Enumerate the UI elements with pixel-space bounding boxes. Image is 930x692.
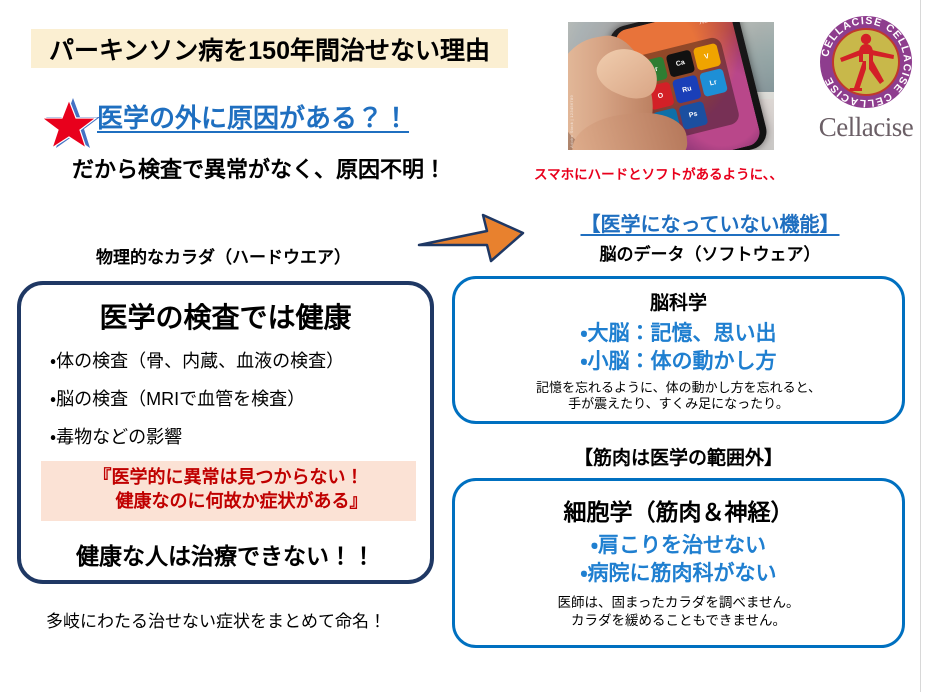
list-item: ・体の検査（骨、内蔵、血液の検査） bbox=[50, 347, 344, 373]
highlighted-quote: 『医学的に異常は見つからない！ 健康なのに何故か症状がある』 bbox=[41, 461, 416, 521]
cellacise-emblem-icon: CELLACISE CELLACISE CELLACISE bbox=[816, 12, 916, 112]
quote-line-2: 健康なのに何故か症状がある』 bbox=[41, 490, 416, 514]
list-item: ・毒物などの影響 bbox=[50, 423, 182, 449]
list-item: ・大脳：記憶、思い出 bbox=[455, 317, 902, 347]
app-icon: Lr bbox=[698, 68, 727, 97]
star-icon bbox=[40, 93, 102, 151]
headline-subline: だから検査で異常がなく、原因不明！ bbox=[72, 152, 446, 184]
photo-caption: スマホにハードとソフトがあるように、、 bbox=[534, 163, 783, 183]
smartphone-photo: Adobe Ar Ca V O Ru Lr ◎ Ps Adobe Stock |… bbox=[568, 22, 774, 150]
headline-group: 医学の外に原因がある？！ bbox=[40, 95, 460, 141]
cellacise-wordmark: Cellacise bbox=[812, 112, 920, 143]
slide-canvas: パーキンソン病を150年間治せない理由 医学の外に原因がある？！ だから検査で異… bbox=[0, 0, 930, 692]
brain-science-box: 脳科学 ・大脳：記憶、思い出 ・小脳：体の動かし方 記憶を忘れるように、体の動か… bbox=[452, 276, 905, 424]
page-title: パーキンソン病を150年間治せない理由 bbox=[49, 31, 490, 67]
brain-note-line: 手が震えたり、すくみ足になったり。 bbox=[455, 393, 902, 412]
headline-link[interactable]: 医学の外に原因がある？！ bbox=[97, 98, 409, 135]
cell-note-line: 医師は、固まったカラダを調べません。 bbox=[455, 591, 902, 611]
list-item: ・肩こりを治せない bbox=[455, 529, 902, 559]
left-box-title: 医学の検査では健康 bbox=[21, 296, 430, 336]
app-icon: Ps bbox=[679, 100, 708, 129]
page-edge-line bbox=[920, 0, 921, 692]
adobe-label: Adobe bbox=[698, 22, 718, 26]
brain-box-title: 脳科学 bbox=[455, 288, 902, 315]
bottom-note: 多岐にわたる治せない症状をまとめて命名！ bbox=[46, 607, 386, 632]
list-item: ・病院に筋肉科がない bbox=[455, 557, 902, 587]
hardware-label: 物理的なカラダ（ハードウエア） bbox=[96, 243, 351, 268]
app-icon: Ca bbox=[666, 49, 695, 78]
software-label: 脳のデータ（ソフトウェア） bbox=[510, 240, 910, 265]
cell-note-line: カラダを緩めることもできません。 bbox=[455, 609, 902, 629]
quote-line-1: 『医学的に異常は見つからない！ bbox=[41, 466, 416, 490]
software-title-link[interactable]: 【医学になっていない機能】 bbox=[510, 208, 910, 237]
cell-biology-box: 細胞学（筋肉＆神経） ・肩こりを治せない ・病院に筋肉科がない 医師は、固まった… bbox=[452, 478, 905, 648]
muscle-heading: 【筋肉は医学の範囲外】 bbox=[452, 443, 905, 470]
slide-title-banner: パーキンソン病を150年間治せない理由 bbox=[31, 29, 508, 68]
medical-exam-box: 医学の検査では健康 ・体の検査（骨、内蔵、血液の検査） ・脳の検査（MRIで血管… bbox=[17, 281, 434, 584]
list-item: ・小脳：体の動かし方 bbox=[455, 345, 902, 375]
app-icon: Ru bbox=[672, 75, 701, 104]
cell-box-title: 細胞学（筋肉＆神経） bbox=[455, 493, 902, 527]
left-box-conclusion: 健康な人は治療できない！！ bbox=[21, 537, 430, 571]
app-icon bbox=[705, 94, 734, 123]
list-item: ・脳の検査（MRIで血管を検査） bbox=[50, 385, 305, 411]
photo-credit: Adobe Stock | 123456789 bbox=[569, 95, 574, 148]
cellacise-logo: CELLACISE CELLACISE CELLACISE Cellacise bbox=[812, 12, 920, 142]
app-icon: V bbox=[692, 42, 721, 71]
